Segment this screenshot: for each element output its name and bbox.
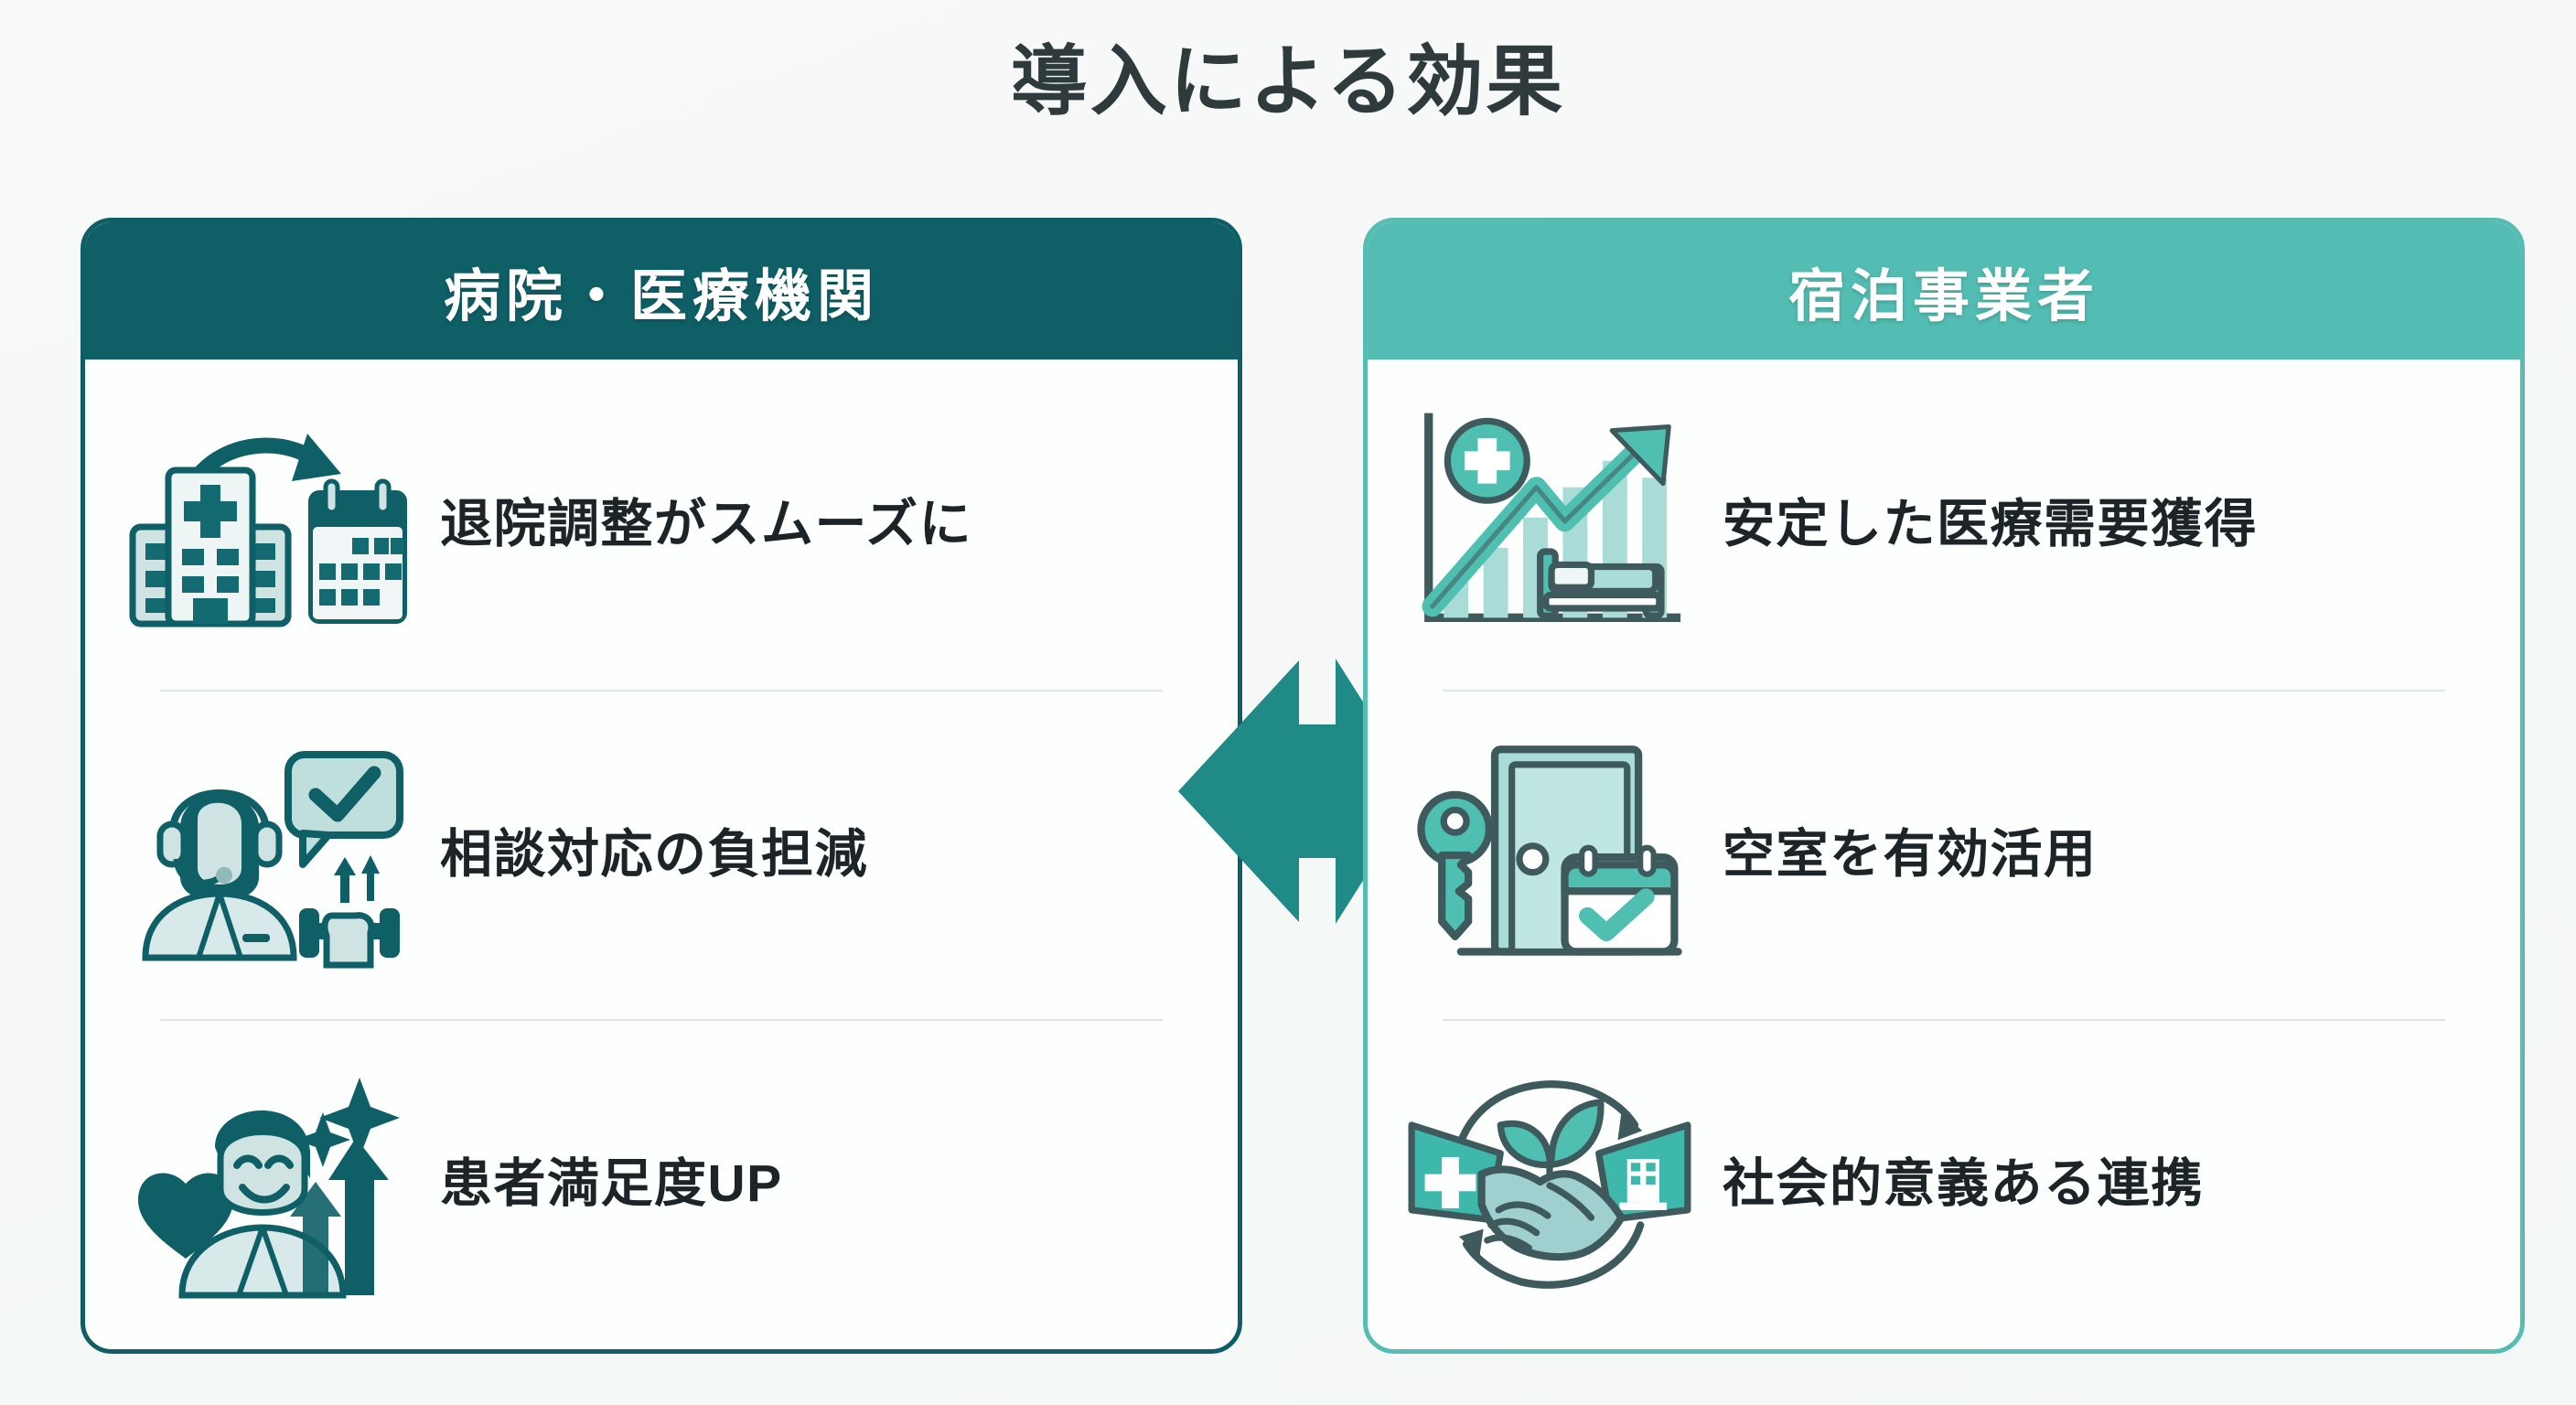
panel-lodging: 宿泊事業者	[1363, 218, 2525, 1354]
panel-hospital: 病院・医療機関	[80, 218, 1242, 1354]
lodging-benefit-row-3: 社会的意義ある連携	[1408, 1019, 2480, 1349]
smiling-patient-heart-sparkle-arrows-icon	[125, 1056, 409, 1313]
page-title: 導入による効果	[0, 38, 2576, 124]
panel-hospital-body: 退院調整がスムーズに	[85, 359, 1238, 1349]
hospital-benefit-row-2: 相談対応の負担減	[125, 690, 1197, 1020]
lodging-benefit-label-1: 安定した医療需要獲得	[1723, 493, 2258, 555]
key-door-calendar-check-icon	[1408, 726, 1691, 982]
infographic-canvas: 導入による効果 病院・医療機関	[0, 0, 2576, 1405]
hospital-benefit-label-1: 退院調整がスムーズに	[440, 493, 972, 555]
hospital-benefit-row-3: 患者満足度UP	[125, 1019, 1197, 1349]
handshake-cross-building-plant-icon	[1408, 1056, 1691, 1313]
lodging-benefit-label-3: 社会的意義ある連携	[1723, 1153, 2205, 1215]
hospital-calendar-transfer-icon	[125, 396, 409, 652]
panel-lodging-header: 宿泊事業者	[1368, 222, 2520, 359]
panel-hospital-header: 病院・医療機関	[85, 222, 1238, 359]
panel-lodging-header-label: 宿泊事業者	[1788, 250, 2099, 332]
panel-hospital-header-label: 病院・医療機関	[444, 250, 879, 332]
panel-lodging-body: 安定した医療需要獲得	[1368, 359, 2520, 1349]
lodging-benefit-row-2: 空室を有効活用	[1408, 690, 2480, 1020]
headset-operator-checkmark-dumbbell-icon	[125, 726, 409, 982]
growth-chart-medical-bed-icon	[1408, 396, 1691, 652]
hospital-benefit-label-3: 患者満足度UP	[440, 1153, 783, 1215]
lodging-benefit-label-2: 空室を有効活用	[1723, 823, 2098, 885]
lodging-benefit-row-1: 安定した医療需要獲得	[1408, 359, 2480, 690]
hospital-benefit-label-2: 相談対応の負担減	[440, 823, 868, 885]
hospital-benefit-row-1: 退院調整がスムーズに	[125, 359, 1197, 690]
